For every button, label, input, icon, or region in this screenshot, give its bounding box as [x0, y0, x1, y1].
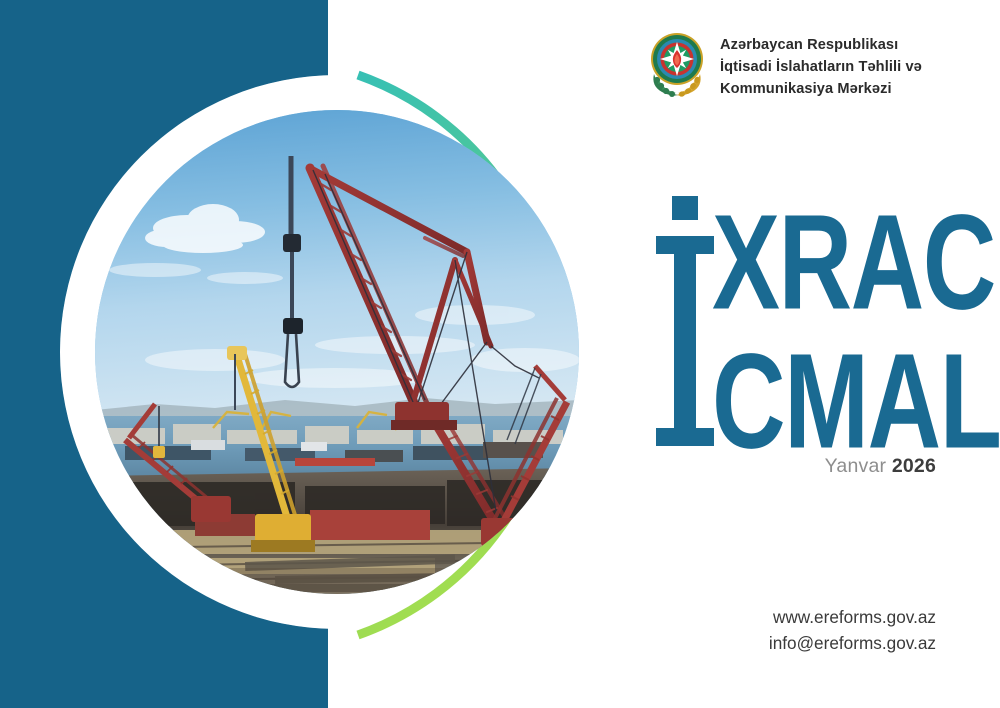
organization-name-line-3: Kommunikasiya Mərkəzi: [720, 78, 922, 100]
title-text-lines: XRAC CMALI: [712, 196, 1000, 438]
organization-name: Azərbaycan Respublikası İqtisadi İslahat…: [720, 28, 922, 101]
organization-name-line-1: Azərbaycan Respublikası: [720, 34, 922, 56]
port-shipyard-cranes-photo: [95, 110, 579, 594]
issue-month: Yanvar: [825, 455, 887, 477]
title-line-1: XRAC: [712, 198, 1000, 329]
azerbaijan-coat-of-arms-emblem: [648, 28, 706, 98]
issue-date: Yanvar 2026: [650, 455, 936, 478]
contact-info: www.ereforms.gov.az info@ereforms.gov.az: [630, 604, 936, 656]
title-line-2: CMALI: [712, 337, 1000, 468]
organization-header: Azərbaycan Respublikası İqtisadi İslahat…: [648, 28, 922, 101]
cover-photo: [95, 110, 579, 594]
email-address[interactable]: info@ereforms.gov.az: [630, 630, 936, 656]
cover-title: XRAC CMALI: [650, 196, 970, 456]
organization-name-line-2: İqtisadi İslahatların Təhlili və: [720, 56, 922, 78]
issue-year: 2026: [892, 455, 936, 477]
website-url[interactable]: www.ereforms.gov.az: [630, 604, 936, 630]
report-cover-page: Azərbaycan Respublikası İqtisadi İslahat…: [0, 0, 1000, 708]
